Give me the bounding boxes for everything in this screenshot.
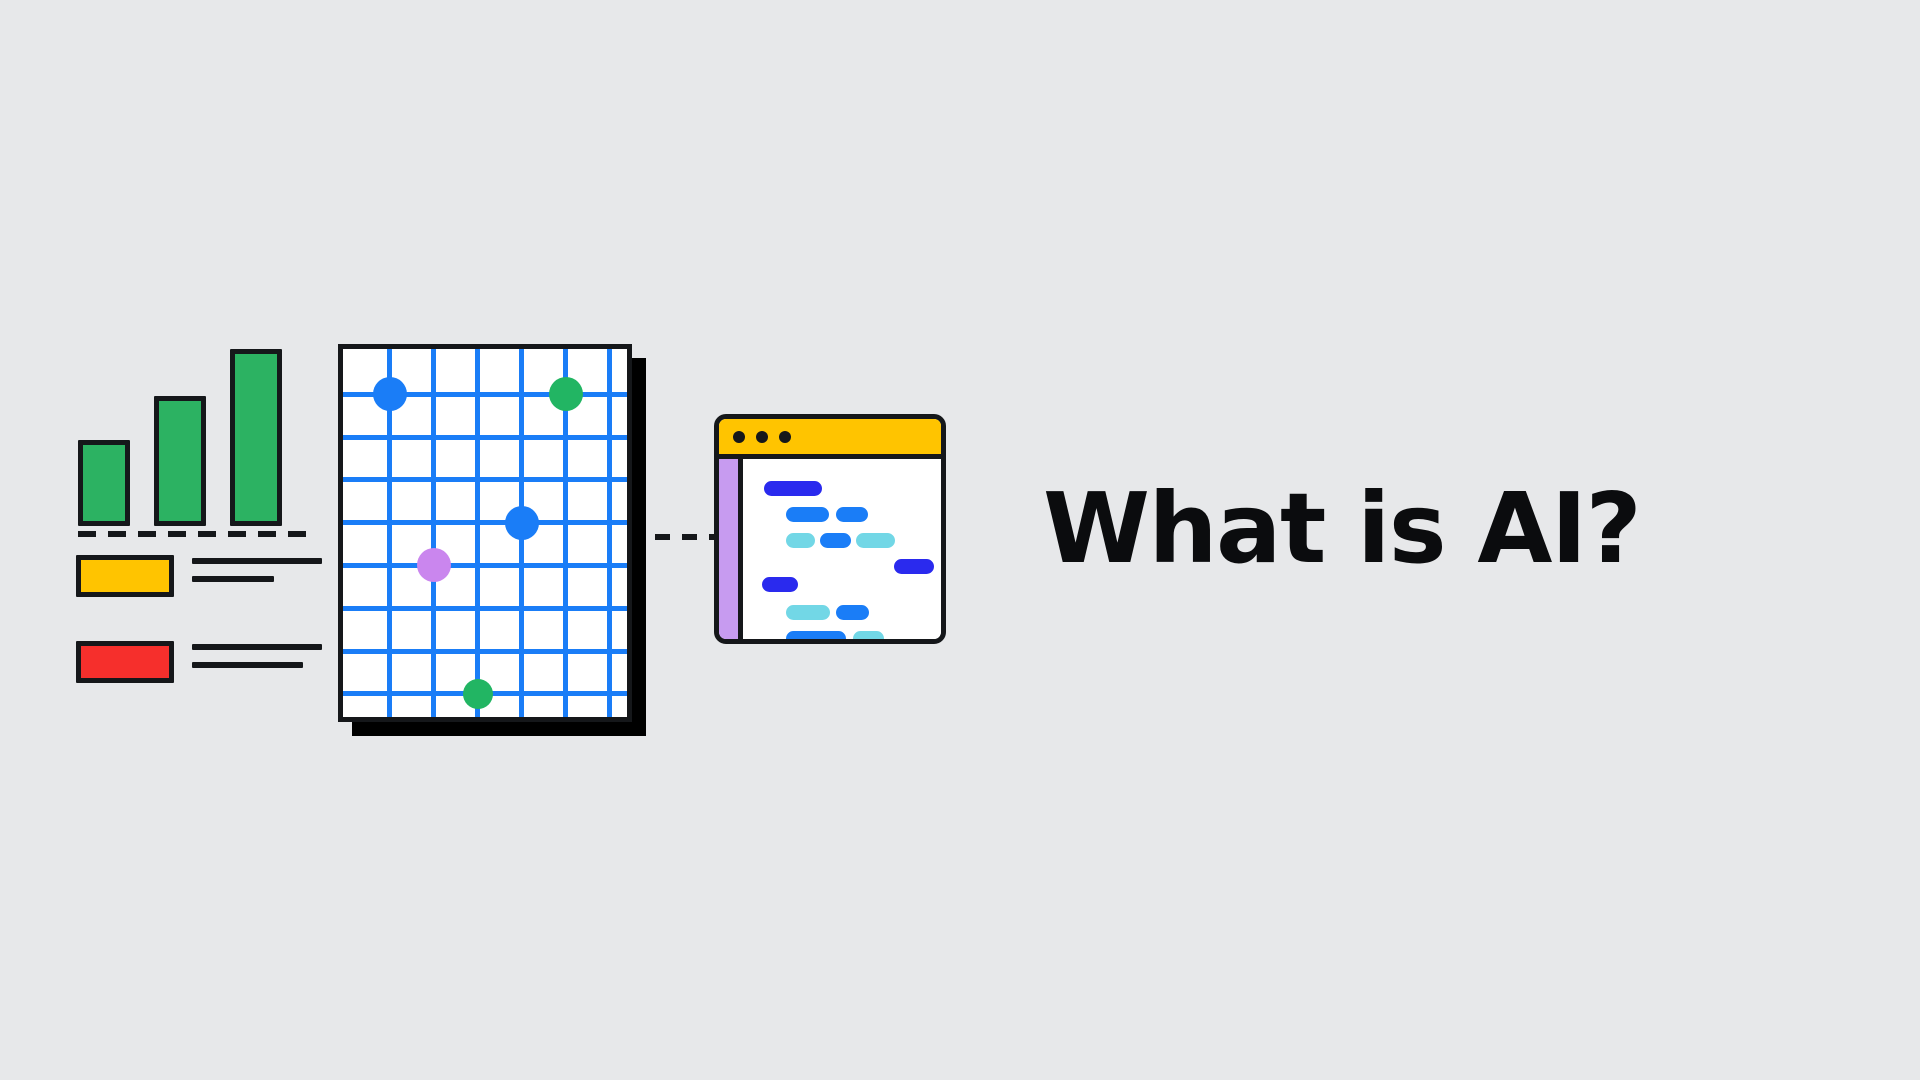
- illustration-stage: What is AI?: [0, 0, 1920, 1080]
- point-blue-2: [505, 506, 539, 540]
- token-2: [786, 507, 829, 522]
- token-6: [856, 533, 895, 548]
- legend-row-red: [76, 641, 326, 685]
- bar-chart-group: [78, 336, 278, 526]
- legend-line-primary: [192, 558, 322, 564]
- token-1: [764, 481, 822, 496]
- bar-2: [154, 396, 206, 526]
- page-title: What is AI?: [1043, 477, 1743, 582]
- token-11: [786, 631, 846, 644]
- legend: [76, 555, 326, 685]
- token-4: [786, 533, 815, 548]
- code-window-body: [748, 459, 941, 639]
- code-window-sidebar: [719, 459, 743, 639]
- legend-text-lines-yellow: [192, 558, 322, 594]
- grid-line-horizontal: [343, 435, 627, 440]
- data-grid-card: [338, 344, 646, 736]
- grid-line-horizontal: [343, 477, 627, 482]
- window-close-dot-icon: [733, 431, 745, 443]
- grid-line-horizontal: [343, 606, 627, 611]
- dashed-connector: [655, 534, 723, 540]
- grid-line-vertical: [475, 349, 480, 717]
- legend-line-secondary: [192, 662, 303, 668]
- point-purple-1: [417, 548, 451, 582]
- token-3: [836, 507, 868, 522]
- token-7: [894, 559, 934, 574]
- token-9: [786, 605, 830, 620]
- code-editor-window: [714, 414, 946, 644]
- grid-line-horizontal: [343, 520, 627, 525]
- window-minimize-dot-icon: [756, 431, 768, 443]
- grid-card-surface: [338, 344, 632, 722]
- grid-line-horizontal: [343, 649, 627, 654]
- bar-3: [230, 349, 282, 526]
- grid-line-horizontal: [343, 563, 627, 568]
- token-8: [762, 577, 798, 592]
- window-maximize-dot-icon: [779, 431, 791, 443]
- point-blue-1: [373, 377, 407, 411]
- token-12: [853, 631, 884, 644]
- dashed-divider: [78, 531, 311, 537]
- legend-swatch-yellow: [76, 555, 174, 597]
- legend-swatch-red: [76, 641, 174, 683]
- grid-line-vertical: [431, 349, 436, 717]
- token-10: [836, 605, 869, 620]
- bar-1: [78, 440, 130, 526]
- code-window-titlebar: [719, 419, 941, 459]
- grid-line-vertical: [607, 349, 612, 717]
- point-green-2: [463, 679, 493, 709]
- point-green-1: [549, 377, 583, 411]
- legend-line-secondary: [192, 576, 274, 582]
- legend-row-yellow: [76, 555, 326, 599]
- token-5: [820, 533, 851, 548]
- legend-line-primary: [192, 644, 322, 650]
- legend-text-lines-red: [192, 644, 322, 680]
